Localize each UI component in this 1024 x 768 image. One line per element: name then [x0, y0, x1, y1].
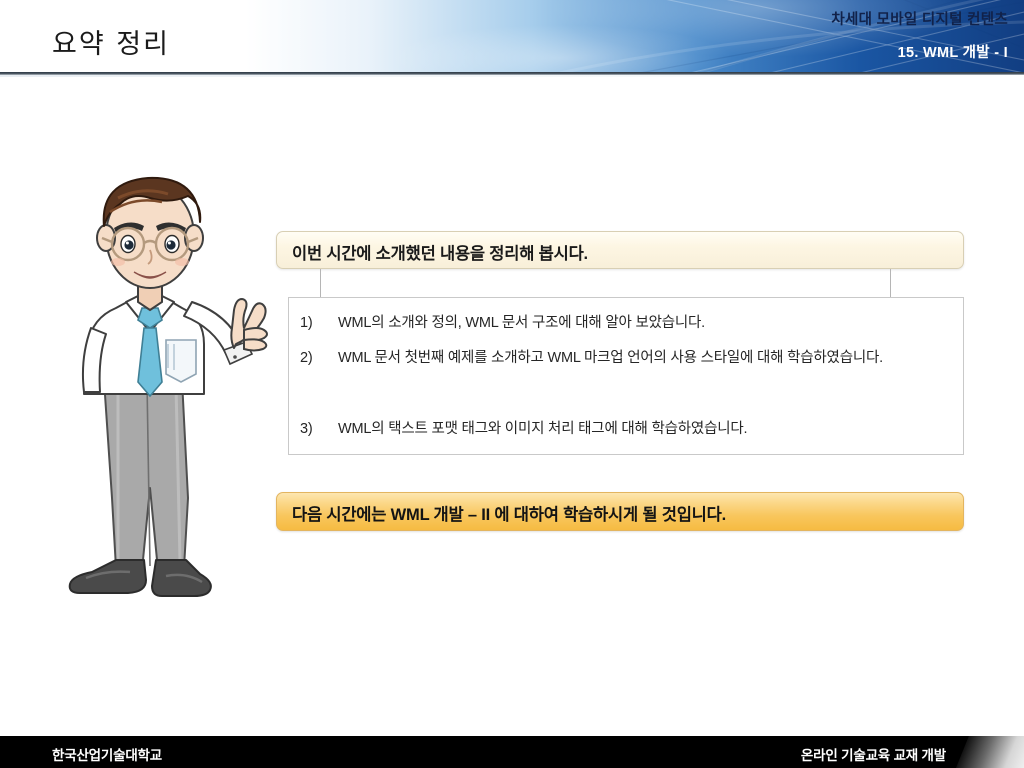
page-title: 요약 정리 — [52, 22, 170, 61]
connector-line-right — [890, 269, 891, 298]
list-item: 3) WML의 택스트 포맷 태그와 이미지 처리 태그에 대해 학습하였습니다… — [300, 418, 950, 440]
list-item: 1) WML의 소개와 정의, WML 문서 구조에 대해 알아 보았습니다. — [300, 312, 950, 334]
course-title: 차세대 모바일 디지털 컨텐츠 — [831, 8, 1008, 29]
summary-callout-text: 이번 시간에 소개했던 내용을 정리해 봅시다. — [292, 240, 588, 264]
list-item-text: WML 문서 첫번째 예제를 소개하고 WML 마크업 언어의 사용 스타일에 … — [338, 347, 950, 369]
footer-institution: 한국산업기술대학교 — [52, 744, 162, 764]
connector-line-left — [320, 269, 321, 298]
list-item-marker: 2) — [300, 347, 338, 369]
chapter-title: 15. WML 개발 - I — [898, 41, 1008, 62]
list-item-marker: 3) — [300, 418, 338, 440]
next-session-text: 다음 시간에는 WML 개발 – II 에 대하여 학습하시게 될 것입니다. — [292, 501, 726, 525]
header-divider-soft — [0, 75, 1024, 77]
list-item: 2) WML 문서 첫번째 예제를 소개하고 WML 마크업 언어의 사용 스타… — [300, 347, 950, 369]
list-item-marker: 1) — [300, 312, 338, 334]
instructor-character-illustration — [58, 168, 288, 618]
summary-callout-box: 이번 시간에 소개했던 내용을 정리해 봅시다. — [276, 231, 964, 269]
footer-accent-slash — [953, 736, 1024, 768]
slide-footer: 한국산업기술대학교 온라인 기술교육 교재 개발 — [0, 736, 1024, 768]
summary-list-box: 1) WML의 소개와 정의, WML 문서 구조에 대해 알아 보았습니다. … — [288, 297, 964, 455]
slide-header: 요약 정리 차세대 모바일 디지털 컨텐츠 15. WML 개발 - I — [0, 0, 1024, 73]
footer-program: 온라인 기술교육 교재 개발 — [801, 744, 946, 764]
list-item-text: WML의 소개와 정의, WML 문서 구조에 대해 알아 보았습니다. — [338, 312, 950, 334]
next-session-box: 다음 시간에는 WML 개발 – II 에 대하여 학습하시게 될 것입니다. — [276, 492, 964, 531]
list-item-text: WML의 택스트 포맷 태그와 이미지 처리 태그에 대해 학습하였습니다. — [338, 418, 950, 440]
